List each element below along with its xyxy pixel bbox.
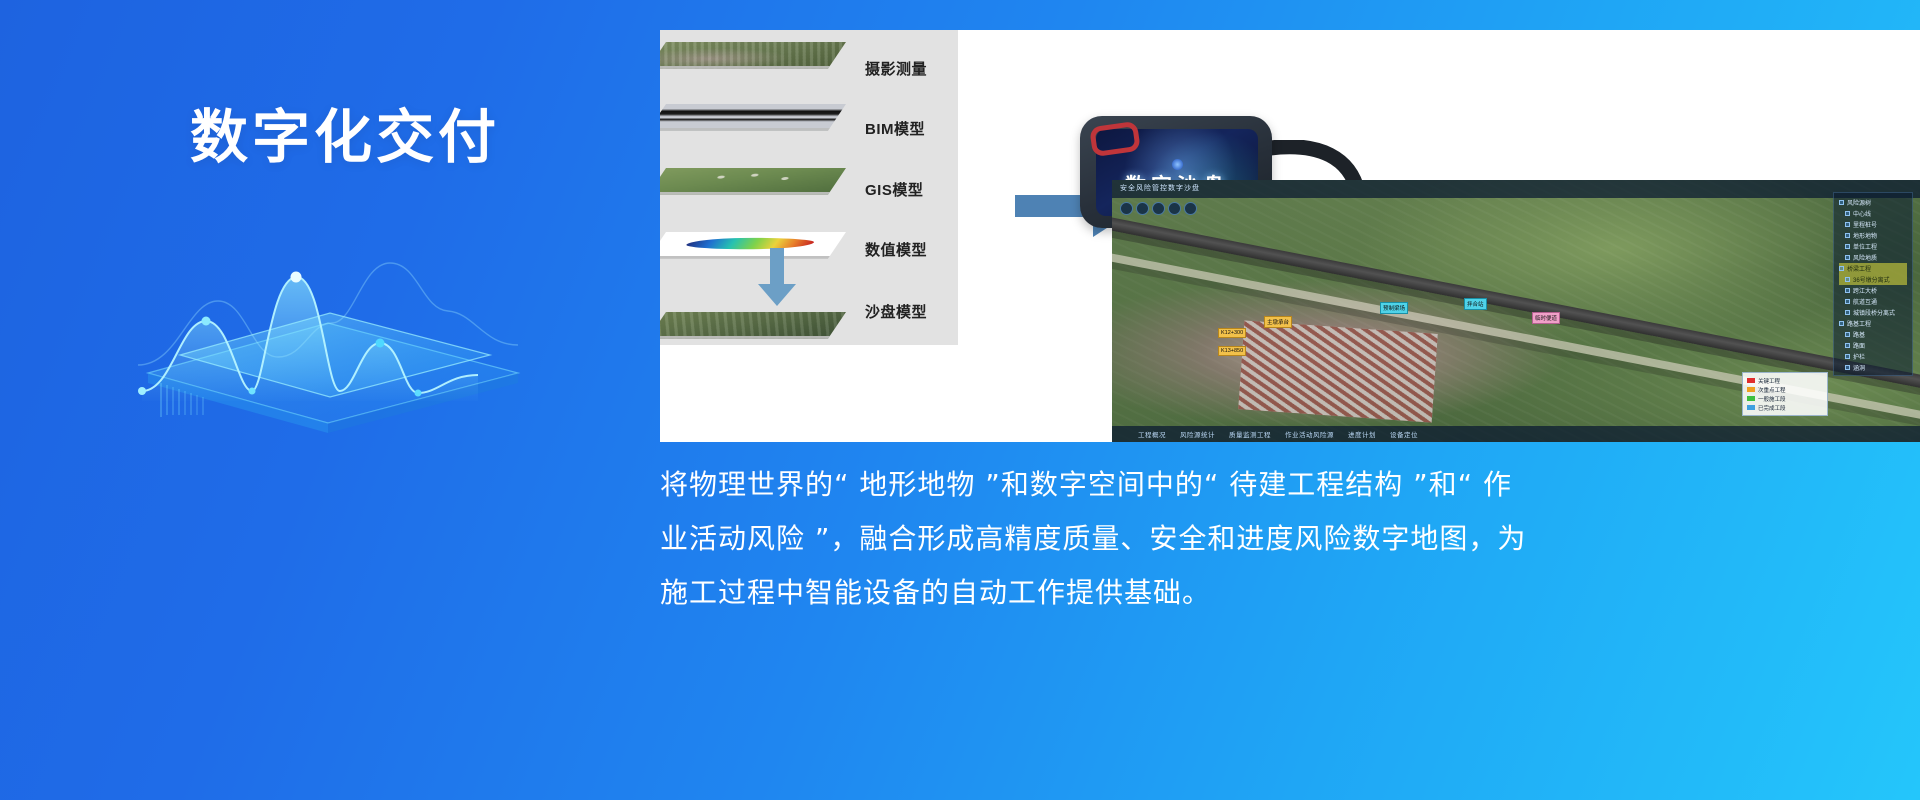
checkbox-icon[interactable] [1845, 310, 1850, 315]
tree-title: 风险源树 [1839, 197, 1907, 208]
tree-item[interactable]: 风险地质 [1839, 252, 1907, 263]
tree-item[interactable]: 航道互通 [1839, 296, 1907, 307]
status-item[interactable]: 风险源统计 [1180, 429, 1215, 439]
layer-label-numeric: 数值模型 [865, 239, 927, 260]
layers-icon[interactable] [1120, 202, 1133, 215]
tree-item[interactable]: 涵洞 [1839, 362, 1907, 373]
layer-slab-gis [660, 168, 846, 195]
map-tag[interactable]: K12+300 [1218, 328, 1246, 338]
description-line: 施工过程中智能设备的自动工作提供基础。 [660, 566, 1840, 620]
village-cluster [1238, 320, 1438, 422]
dashboard-screenshot: 安全风险管控数字沙盘 K12+300 K13+850 主墩承台 预制梁场 拌合站… [1112, 180, 1920, 442]
layer-label-sandtable: 沙盘模型 [865, 301, 927, 322]
status-item[interactable]: 质量监测工程 [1229, 429, 1271, 439]
checkbox-icon[interactable] [1845, 233, 1850, 238]
tree-item[interactable]: 里程桩号 [1839, 219, 1907, 230]
checkbox-icon[interactable] [1845, 365, 1850, 370]
settings-icon[interactable] [1184, 202, 1197, 215]
legend-item: 关键工程 [1747, 376, 1823, 385]
media-card: 摄影测量 BIM模型 GIS模型 数值模型 沙盘模型 [660, 30, 1920, 442]
status-item[interactable]: 设备定位 [1390, 429, 1418, 439]
checkbox-icon[interactable] [1845, 299, 1850, 304]
map-tag[interactable]: K13+850 [1218, 346, 1246, 356]
peak-dot [415, 390, 422, 397]
layer-slab-photogrammetry [660, 42, 846, 69]
page-title: 数字化交付 [190, 106, 500, 170]
zoom-icon[interactable] [1168, 202, 1181, 215]
down-arrow-icon [756, 248, 798, 308]
peak-dot [202, 317, 211, 326]
tree-item[interactable]: 路基工程 [1839, 318, 1907, 329]
folder-icon [1839, 200, 1844, 205]
tree-item[interactable]: 桥梁工程 [1839, 263, 1907, 274]
map-tag[interactable]: 拌合站 [1464, 298, 1487, 310]
tree-item[interactable]: 路基 [1839, 329, 1907, 340]
description-line: 将物理世界的“ 地形地物 ”和数字空间中的“ 待建工程结构 ”和“ 作 [660, 458, 1840, 512]
layer-labels: 摄影测量 BIM模型 GIS模型 数值模型 沙盘模型 [865, 30, 957, 340]
layer-slab-numeric [660, 232, 846, 259]
tree-item[interactable]: 地形地物 [1839, 230, 1907, 241]
map-tag[interactable]: 主墩承台 [1264, 316, 1292, 328]
layer-label-gis: GIS模型 [865, 179, 923, 200]
status-item[interactable]: 工程概况 [1138, 429, 1166, 439]
layer-tree-panel[interactable]: 风险源树 中心线 里程桩号 地形地物 单位工程 风险地质 桥梁工程 36号墩分离… [1833, 192, 1913, 376]
checkbox-icon[interactable] [1845, 288, 1850, 293]
risk-legend: 关键工程 次重点工程 一般施工段 已完成工段 [1742, 372, 1828, 416]
layer-label-photogrammetry: 摄影测量 [865, 58, 927, 79]
legend-item: 次重点工程 [1747, 385, 1823, 394]
tree-item[interactable]: 中心线 [1839, 208, 1907, 219]
dashboard-title: 安全风险管控数字沙盘 [1112, 180, 1920, 198]
peak-dot [291, 272, 302, 283]
description-line: 业活动风险 ”，融合形成高精度质量、安全和进度风险数字地图，为 [660, 512, 1840, 566]
checkbox-icon[interactable] [1845, 222, 1850, 227]
status-item[interactable]: 作业活动风险源 [1285, 429, 1334, 439]
tree-item[interactable]: 路面 [1839, 340, 1907, 351]
locate-icon[interactable] [1152, 202, 1165, 215]
slide-root: 数字化交付 [0, 0, 1920, 800]
peak-dot [249, 388, 256, 395]
checkbox-icon[interactable] [1845, 244, 1850, 249]
checkbox-icon[interactable] [1845, 332, 1850, 337]
dashboard-toolbar[interactable] [1120, 202, 1197, 215]
tree-item[interactable]: 护栏 [1839, 351, 1907, 362]
description-text: 将物理世界的“ 地形地物 ”和数字空间中的“ 待建工程结构 ”和“ 作 业活动风… [660, 458, 1840, 620]
map-tag[interactable]: 临时便道 [1532, 312, 1560, 324]
device-screen-dot [1172, 159, 1183, 170]
checkbox-icon[interactable] [1845, 211, 1850, 216]
layer-label-bim: BIM模型 [865, 118, 925, 139]
checkbox-icon[interactable] [1845, 255, 1850, 260]
layer-slab-sandtable [660, 312, 846, 339]
checkbox-icon[interactable] [1839, 321, 1844, 326]
checkbox-icon[interactable] [1839, 266, 1844, 271]
right-panel: 摄影测量 BIM模型 GIS模型 数值模型 沙盘模型 [660, 30, 1920, 800]
checkbox-icon[interactable] [1845, 343, 1850, 348]
legend-item: 一般施工段 [1747, 394, 1823, 403]
terrain-wave-graphic [118, 205, 538, 435]
peak-dot [376, 339, 385, 348]
map-tag[interactable]: 预制梁场 [1380, 302, 1408, 314]
checkbox-icon[interactable] [1845, 277, 1850, 282]
tree-item[interactable]: 36号墩分离式 [1839, 274, 1907, 285]
peak-dot [138, 387, 146, 395]
measure-icon[interactable] [1136, 202, 1149, 215]
layer-slab-bim [660, 104, 846, 131]
status-item[interactable]: 进度计划 [1348, 429, 1376, 439]
layers-diagram-panel: 摄影测量 BIM模型 GIS模型 数值模型 沙盘模型 [660, 30, 958, 345]
tree-item[interactable]: 城镇段桥分离式 [1839, 307, 1907, 318]
tree-item[interactable]: 单位工程 [1839, 241, 1907, 252]
tree-item[interactable]: 跨江大桥 [1839, 285, 1907, 296]
dashboard-statusbar[interactable]: 工程概况 风险源统计 质量监测工程 作业活动风险源 进度计划 设备定位 [1112, 426, 1920, 442]
left-panel: 数字化交付 [0, 0, 660, 800]
checkbox-icon[interactable] [1845, 354, 1850, 359]
legend-item: 已完成工段 [1747, 403, 1823, 412]
